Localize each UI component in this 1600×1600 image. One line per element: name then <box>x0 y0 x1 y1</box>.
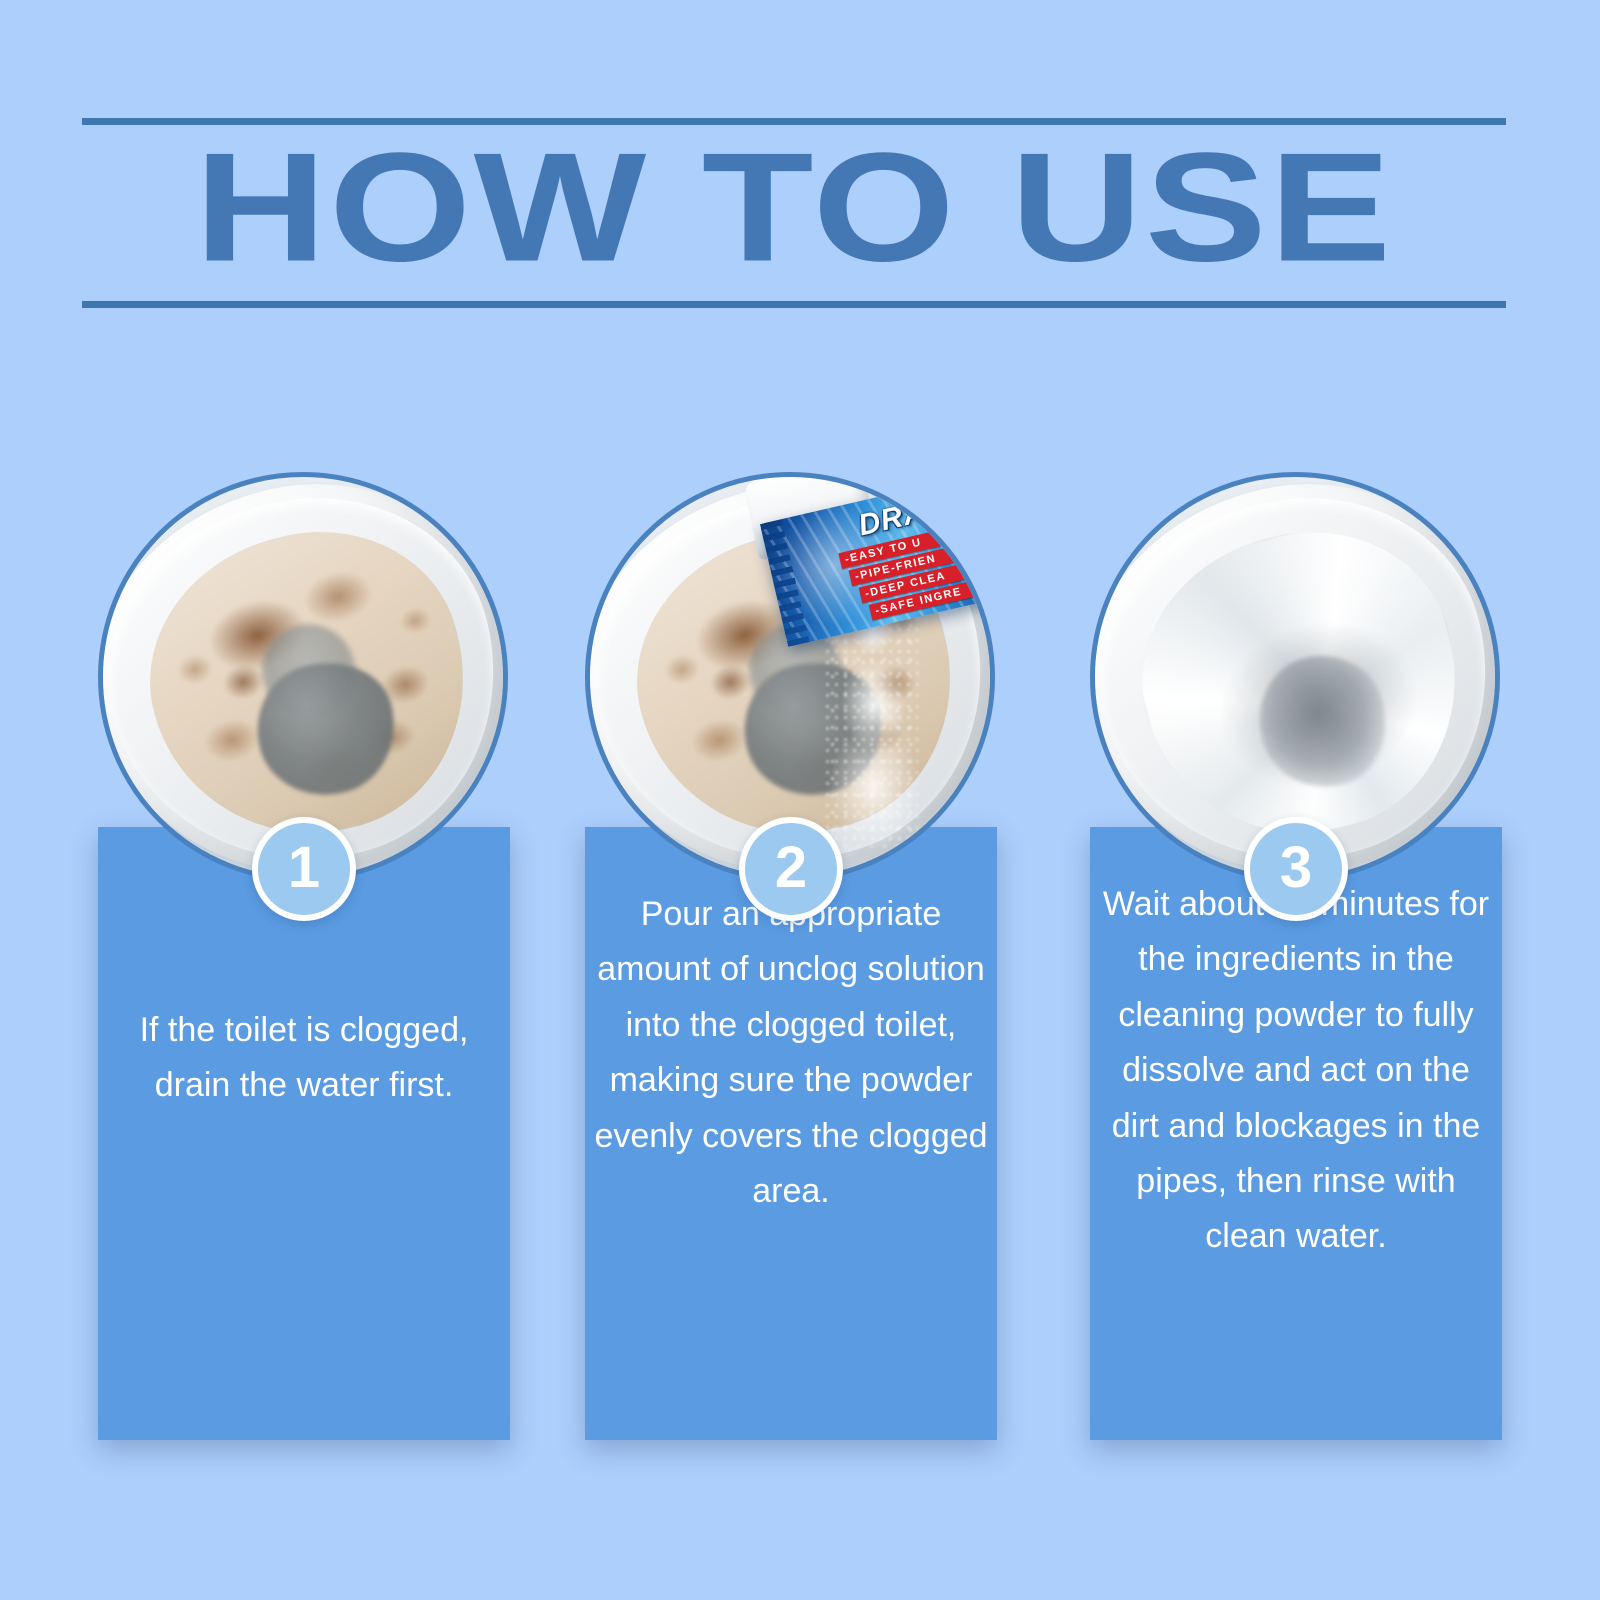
step-3-description: Wait about 10 minutes for the ingredient… <box>1098 877 1494 1265</box>
step-1-number: 1 <box>288 839 320 897</box>
step-1-number-badge: 1 <box>252 817 356 921</box>
step-2-number: 2 <box>775 839 807 897</box>
page-title-text: HOW TO USE <box>195 130 1394 285</box>
step-card-3: Wait about 10 minutes for the ingredient… <box>1090 460 1502 1470</box>
step-3-number: 3 <box>1280 839 1312 897</box>
step-card-1: If the toilet is clogged, drain the wate… <box>98 460 510 1470</box>
page-header: HOW TO USE <box>82 118 1506 308</box>
page-title: HOW TO USE <box>82 136 1506 291</box>
header-rule-bottom <box>82 301 1506 308</box>
step-2-number-badge: 2 <box>739 817 843 921</box>
step-2-description: Pour an appropriate amount of unclog sol… <box>593 887 989 1219</box>
step-1-description: If the toilet is clogged, drain the wate… <box>106 1003 502 1114</box>
step-card-2: Pour an appropriate amount of unclog sol… <box>585 460 997 1470</box>
steps-container: If the toilet is clogged, drain the wate… <box>0 460 1600 1470</box>
infographic-page: { "header": { "title": "HOW TO USE", "ru… <box>0 0 1600 1600</box>
step-3-number-badge: 3 <box>1244 817 1348 921</box>
